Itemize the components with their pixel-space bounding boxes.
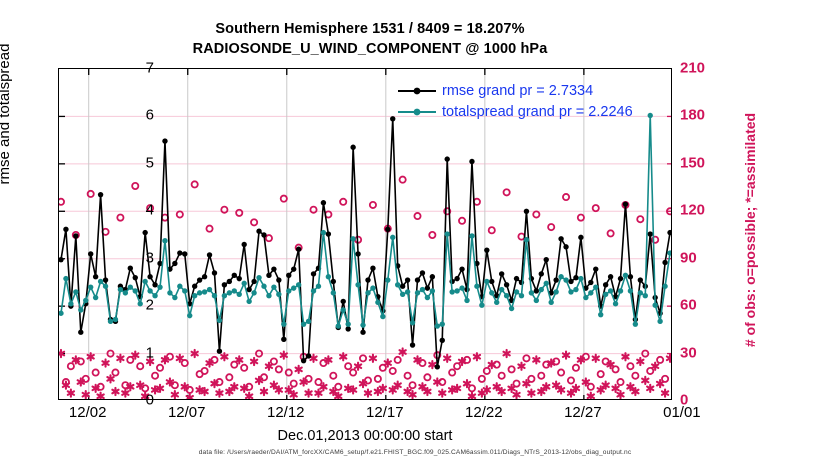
page-title-line2: RADIOSONDE_U_WIND_COMPONENT @ 1000 hPa xyxy=(0,41,740,57)
legend-item-label: rmse grand pr = 2.7334 xyxy=(442,83,593,99)
y-axis-left-tick: 5 xyxy=(94,154,154,171)
x-axis-tick: 12/02 xyxy=(48,404,128,421)
y-axis-left-tick: 1 xyxy=(94,344,154,361)
y-axis-right-tick: 90 xyxy=(680,249,724,266)
y-axis-right-tick: 30 xyxy=(680,344,724,361)
x-axis-tick: 12/07 xyxy=(147,404,227,421)
y-axis-left-tick: 4 xyxy=(94,202,154,219)
x-axis-tick: 12/17 xyxy=(345,404,425,421)
y-axis-left-tick: 6 xyxy=(94,107,154,124)
legend-marker-icon xyxy=(396,84,438,98)
y-axis-right-tick: 120 xyxy=(680,202,724,219)
x-axis-tick: 01/01 xyxy=(642,404,722,421)
x-axis-title: Dec.01,2013 00:00:00 start xyxy=(58,428,672,444)
legend-item[interactable]: totalspread grand pr = 2.2246 xyxy=(396,101,633,122)
y-axis-right-tick: 60 xyxy=(680,297,724,314)
legend-item[interactable]: rmse grand pr = 2.7334 xyxy=(396,80,633,101)
x-axis-tick: 12/22 xyxy=(444,404,524,421)
y-axis-right-title: # of obs: o=possible; *=assimilated xyxy=(742,62,758,398)
y-axis-left-tick: 3 xyxy=(94,249,154,266)
y-axis-right-tick: 210 xyxy=(680,60,724,77)
y-axis-left-title: rmse and totalspread xyxy=(0,0,13,234)
page-title-line1: Southern Hemisphere 1531 / 8409 = 18.207… xyxy=(0,21,740,37)
figure-root: Southern Hemisphere 1531 / 8409 = 18.207… xyxy=(0,0,830,470)
legend-marker-icon xyxy=(396,105,438,119)
x-axis-tick: 12/12 xyxy=(246,404,326,421)
y-axis-right-tick: 150 xyxy=(680,154,724,171)
y-axis-right-tick: 180 xyxy=(680,107,724,124)
chart-legend: rmse grand pr = 2.7334totalspread grand … xyxy=(396,80,633,122)
x-axis-tick: 12/27 xyxy=(543,404,623,421)
y-axis-left-tick: 7 xyxy=(94,60,154,77)
legend-item-label: totalspread grand pr = 2.2246 xyxy=(442,104,633,120)
data-file-caption: data file: /Users/raeder/DAI/ATM_forcXX/… xyxy=(0,449,830,456)
y-axis-left-tick: 2 xyxy=(94,297,154,314)
